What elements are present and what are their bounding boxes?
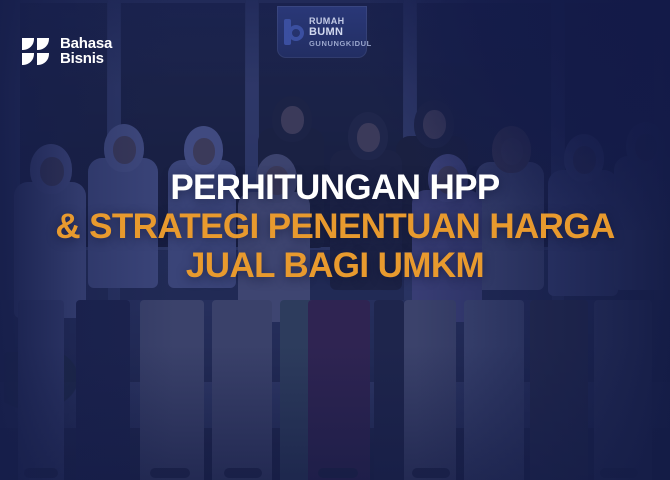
brand-wordmark: Bahasa Bisnis	[60, 36, 112, 67]
rumah-bumn-logo-icon	[284, 19, 304, 45]
title-line-1: PERHITUNGAN HPP	[14, 168, 656, 207]
title-line-3: JUAL BAGI UMKM	[14, 246, 656, 285]
signboard-line-1: RUMAH	[309, 17, 372, 26]
signboard-line-3: GUNUNGKIDUL	[309, 40, 372, 48]
brand-logo: Bahasa Bisnis	[22, 36, 112, 67]
signboard-line-2: BUMN	[309, 27, 372, 38]
banner-image: RUMAH BUMN GUNUNGKIDUL Bahasa Bisnis PER…	[0, 0, 670, 480]
four-quadrant-logo-icon	[22, 38, 49, 65]
title-block: PERHITUNGAN HPP & STRATEGI PENENTUAN HAR…	[0, 168, 670, 286]
title-line-2: & STRATEGI PENENTUAN HARGA	[14, 207, 656, 246]
rumah-bumn-signboard: RUMAH BUMN GUNUNGKIDUL	[277, 6, 367, 58]
brand-name-line-1: Bahasa	[60, 36, 112, 51]
brand-name-line-2: Bisnis	[60, 51, 112, 66]
